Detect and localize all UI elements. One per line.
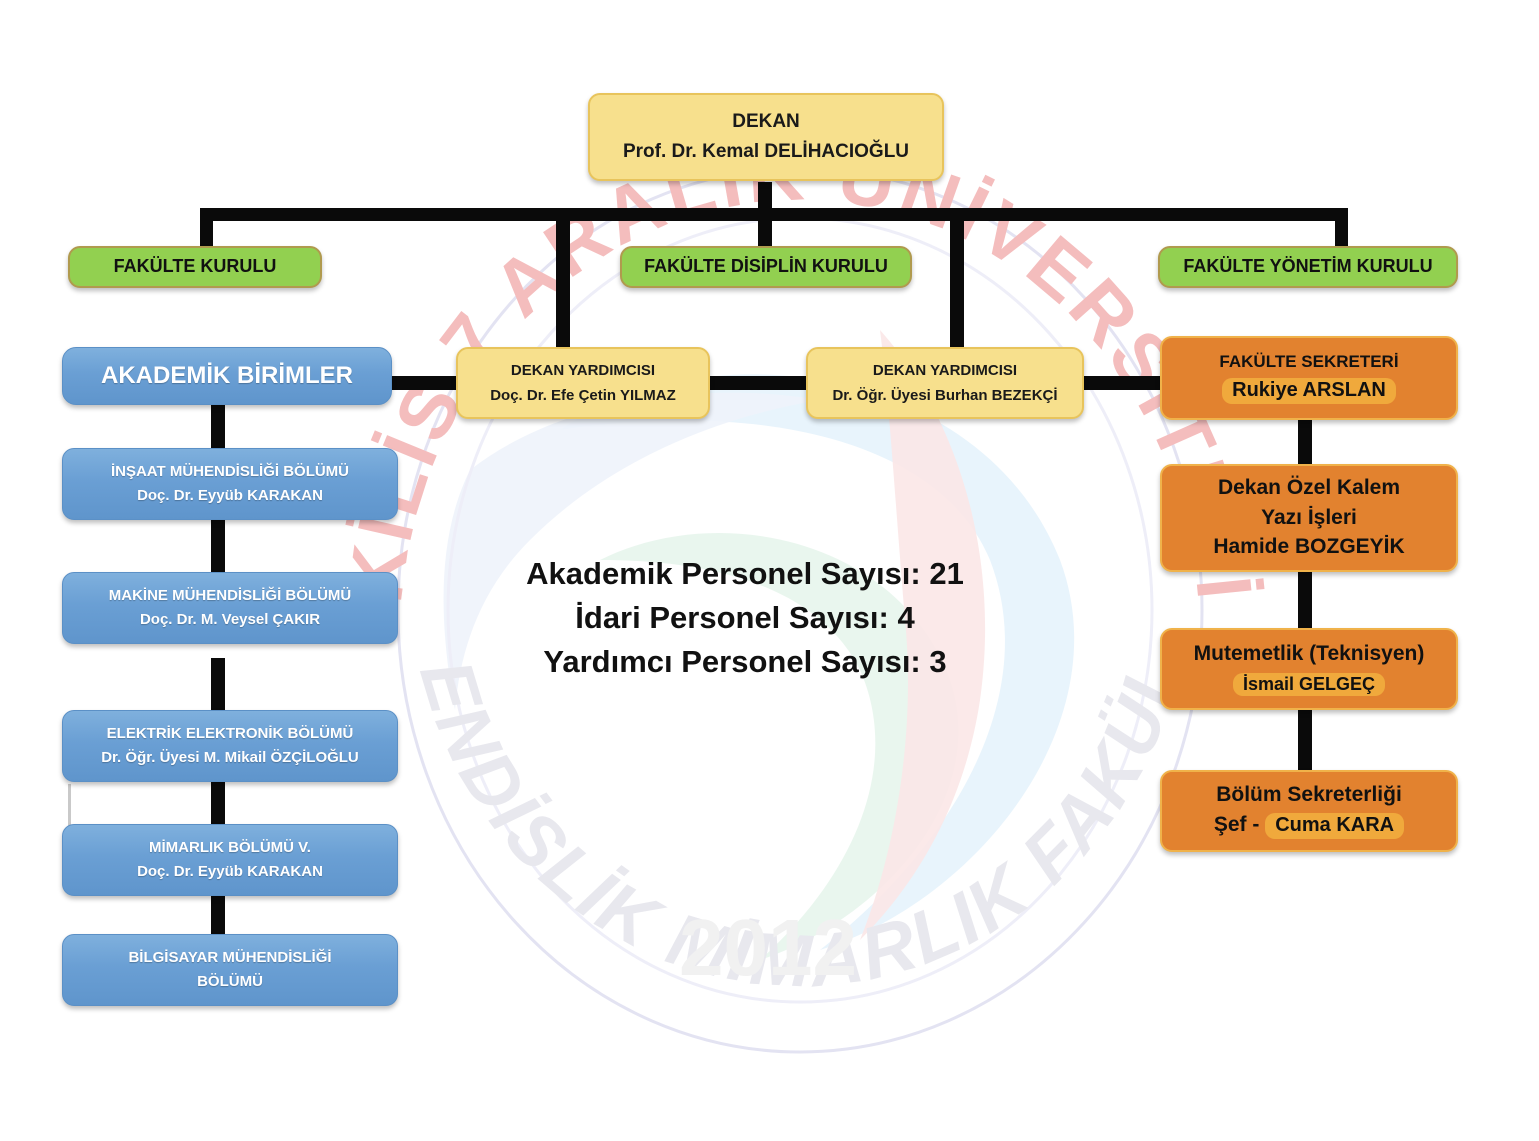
node-department-insaat-title: İNŞAAT MÜHENDİSLİĞİ BÖLÜMÜ <box>63 463 397 481</box>
node-department-insaat[interactable]: İNŞAAT MÜHENDİSLİĞİ BÖLÜMÜ Doç. Dr. Eyyü… <box>62 448 398 520</box>
node-department-elektrik-title: ELEKTRİK ELEKTRONİK BÖLÜMÜ <box>63 725 397 743</box>
node-department-bilgisayar-title: BİLGİSAYAR MÜHENDİSLİĞİ <box>63 949 397 967</box>
node-department-mimarlik-name: Doç. Dr. Eyyüb KARAKAN <box>63 863 397 881</box>
connector-drop-fakulte-kurulu <box>200 208 213 248</box>
connector-thin-stub <box>68 784 71 826</box>
connector-akademik-spine-2 <box>211 520 225 574</box>
node-department-mimarlik[interactable]: MİMARLIK BÖLÜMÜ V. Doç. Dr. Eyyüb KARAKA… <box>62 824 398 896</box>
node-bolum-sekreterligi-name-row: Şef - Cuma KARA <box>1162 813 1456 839</box>
node-fakulte-sekreteri-title: FAKÜLTE SEKRETERİ <box>1162 352 1456 372</box>
node-dekan-title: DEKAN <box>590 111 942 133</box>
connector-idari-spine-1 <box>1298 420 1312 464</box>
connector-drop-yonetim-kurulu <box>1335 208 1348 248</box>
node-akademik-birimler-header[interactable]: AKADEMİK BİRİMLER <box>62 347 392 405</box>
node-akademik-birimler-label: AKADEMİK BİRİMLER <box>63 362 391 390</box>
node-fakulte-disiplin-kurulu-label: FAKÜLTE DİSİPLİN KURULU <box>622 256 910 277</box>
watermark-year: 2012 <box>679 903 857 992</box>
node-dekan-ozel-kalem-line3: Hamide BOZGEYİK <box>1162 535 1456 560</box>
node-dekan-yrd-1-name: Doç. Dr. Efe Çetin YILMAZ <box>458 387 708 405</box>
node-fakulte-kurulu[interactable]: FAKÜLTE KURULU <box>68 246 322 288</box>
node-department-elektrik[interactable]: ELEKTRİK ELEKTRONİK BÖLÜMÜ Dr. Öğr. Üyes… <box>62 710 398 782</box>
node-dekan-ozel-kalem-line1: Dekan Özel Kalem <box>1162 476 1456 501</box>
connector-drop-dekan-yrd-2 <box>950 208 964 355</box>
node-department-makine-name: Doç. Dr. M. Veysel ÇAKIR <box>63 611 397 629</box>
org-chart-canvas: KİLİS 7 ARALIK ÜNİVERSİTESİ MÜHENDİSLİK … <box>0 0 1539 1141</box>
node-department-makine[interactable]: MAKİNE MÜHENDİSLİĞİ BÖLÜMÜ Doç. Dr. M. V… <box>62 572 398 644</box>
node-fakulte-sekreteri-name: Rukiye ARSLAN <box>1222 378 1396 404</box>
stats-line-support: Yardımcı Personel Sayısı: 3 <box>440 640 1050 684</box>
node-dekan[interactable]: DEKAN Prof. Dr. Kemal DELİHACIOĞLU <box>588 93 944 181</box>
node-dekan-ozel-kalem-line2: Yazı İşleri <box>1162 506 1456 531</box>
node-fakulte-yonetim-kurulu[interactable]: FAKÜLTE YÖNETİM KURULU <box>1158 246 1458 288</box>
node-dekan-name: Prof. Dr. Kemal DELİHACIOĞLU <box>590 141 942 163</box>
node-department-elektrik-name: Dr. Öğr. Üyesi M. Mikail ÖZÇİLOĞLU <box>63 749 397 767</box>
connector-idari-spine-3 <box>1298 710 1312 770</box>
connector-akademik-spine-1 <box>211 404 225 450</box>
connector-dekanyrd2-to-sekreter <box>1080 376 1160 390</box>
connector-dekanyrd1-to-dekanyrd2 <box>706 376 810 390</box>
node-mutemetlik-name-row: İsmail GELGEÇ <box>1162 672 1456 697</box>
connector-akademik-spine-3 <box>211 658 225 712</box>
node-department-bilgisayar[interactable]: BİLGİSAYAR MÜHENDİSLİĞİ BÖLÜMÜ <box>62 934 398 1006</box>
connector-drop-disiplin-kurulu <box>758 208 772 248</box>
node-dekan-ozel-kalem[interactable]: Dekan Özel Kalem Yazı İşleri Hamide BOZG… <box>1160 464 1458 572</box>
node-dekan-yrd-1-title: DEKAN YARDIMCISI <box>458 362 708 380</box>
connector-drop-dekan-yrd-1 <box>556 208 570 355</box>
node-fakulte-sekreteri[interactable]: FAKÜLTE SEKRETERİ Rukiye ARSLAN <box>1160 336 1458 420</box>
node-mutemetlik[interactable]: Mutemetlik (Teknisyen) İsmail GELGEÇ <box>1160 628 1458 710</box>
node-department-mimarlik-title: MİMARLIK BÖLÜMÜ V. <box>63 839 397 857</box>
node-bolum-sekreterligi[interactable]: Bölüm Sekreterliği Şef - Cuma KARA <box>1160 770 1458 852</box>
node-fakulte-disiplin-kurulu[interactable]: FAKÜLTE DİSİPLİN KURULU <box>620 246 912 288</box>
node-dekan-yardimcisi-2[interactable]: DEKAN YARDIMCISI Dr. Öğr. Üyesi Burhan B… <box>806 347 1084 419</box>
node-bolum-sekreterligi-prefix: Şef - <box>1214 813 1265 836</box>
connector-akademik-to-dekanyrd1 <box>388 376 460 390</box>
node-dekan-yrd-2-name: Dr. Öğr. Üyesi Burhan BEZEKÇİ <box>808 387 1082 405</box>
personnel-stats: Akademik Personel Sayısı: 21 İdari Perso… <box>440 552 1050 684</box>
stats-line-academic: Akademik Personel Sayısı: 21 <box>440 552 1050 596</box>
node-fakulte-kurulu-label: FAKÜLTE KURULU <box>70 256 320 277</box>
node-department-makine-title: MAKİNE MÜHENDİSLİĞİ BÖLÜMÜ <box>63 587 397 605</box>
node-fakulte-yonetim-kurulu-label: FAKÜLTE YÖNETİM KURULU <box>1160 256 1456 277</box>
connector-akademik-spine-5 <box>211 894 225 934</box>
node-dekan-yardimcisi-1[interactable]: DEKAN YARDIMCISI Doç. Dr. Efe Çetin YILM… <box>456 347 710 419</box>
node-mutemetlik-title: Mutemetlik (Teknisyen) <box>1162 642 1456 667</box>
node-fakulte-sekreteri-name-row: Rukiye ARSLAN <box>1162 378 1456 404</box>
node-department-bilgisayar-name: BÖLÜMÜ <box>63 973 397 991</box>
connector-idari-spine-2 <box>1298 572 1312 628</box>
node-mutemetlik-name: İsmail GELGEÇ <box>1233 673 1385 696</box>
node-bolum-sekreterligi-title: Bölüm Sekreterliği <box>1162 783 1456 808</box>
node-dekan-yrd-2-title: DEKAN YARDIMCISI <box>808 362 1082 380</box>
node-department-insaat-name: Doç. Dr. Eyyüb KARAKAN <box>63 487 397 505</box>
stats-line-administrative: İdari Personel Sayısı: 4 <box>440 596 1050 640</box>
connector-akademik-spine-4 <box>211 778 225 826</box>
connector-main-bus <box>200 208 1348 221</box>
node-bolum-sekreterligi-name: Cuma KARA <box>1265 813 1404 839</box>
